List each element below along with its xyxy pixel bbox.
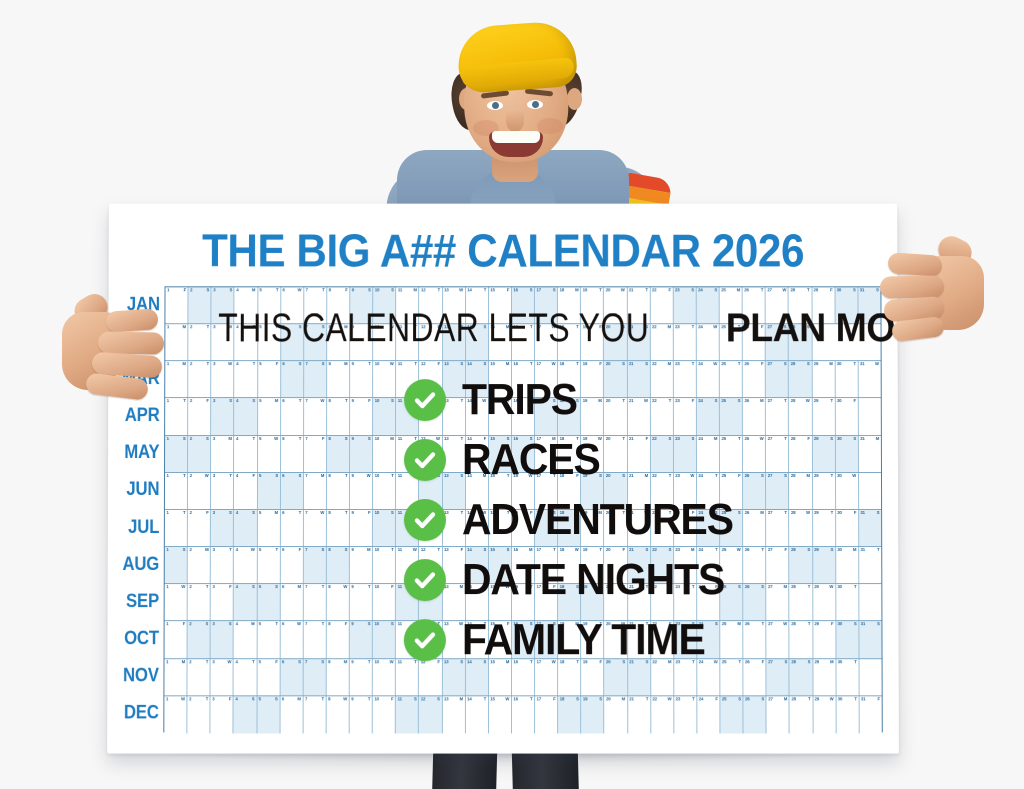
day-cell[interactable]: 17F	[535, 584, 558, 620]
day-cell[interactable]: 27W	[767, 622, 790, 658]
day-cell[interactable]: 26S	[743, 584, 766, 620]
day-cell[interactable]: 6W	[280, 622, 303, 658]
day-cell[interactable]: 12S	[419, 696, 442, 733]
day-cell[interactable]: 25T	[720, 659, 743, 695]
day-cell[interactable]: 5F	[258, 361, 281, 397]
day-cell[interactable]: 19W	[581, 436, 604, 472]
day-cell[interactable]: 21S	[628, 547, 651, 583]
day-cell[interactable]: 7M	[304, 473, 327, 509]
day-cell[interactable]: 9M	[350, 547, 373, 583]
day-cell[interactable]: 24S	[697, 399, 720, 435]
day-cell[interactable]: 19F	[581, 361, 604, 397]
day-cell[interactable]: 28S	[789, 361, 812, 397]
day-cell[interactable]: 13W	[442, 622, 465, 658]
day-cell[interactable]: 12M	[419, 399, 442, 435]
day-cell[interactable]: 31S	[859, 510, 881, 546]
day-cell[interactable]: 28W	[789, 399, 812, 435]
day-cell[interactable]: 2S	[188, 436, 211, 472]
day-cell[interactable]: 29T	[813, 510, 836, 546]
day-cell[interactable]: 19T	[581, 547, 604, 583]
day-cell[interactable]: 19S	[581, 473, 604, 509]
day-cell[interactable]: 24T	[697, 473, 720, 509]
day-cell[interactable]: 22T	[651, 399, 674, 435]
day-cell[interactable]: 29F	[813, 622, 836, 658]
day-cell[interactable]: 5M	[257, 510, 280, 546]
day-cell[interactable]: 10T	[373, 473, 396, 509]
day-cell[interactable]: 16F	[512, 399, 535, 435]
day-cell[interactable]: 28S	[789, 324, 812, 360]
day-cell[interactable]: 4T	[235, 361, 258, 397]
day-cell[interactable]: 8T	[327, 510, 350, 546]
day-cell[interactable]: 6S	[281, 473, 304, 509]
day-cell[interactable]: 22W	[651, 584, 674, 620]
day-cell[interactable]: 21M	[627, 473, 650, 509]
day-cell[interactable]: 14S	[466, 361, 489, 397]
day-cell[interactable]: 6F	[280, 547, 303, 583]
day-cell[interactable]: 27T	[766, 436, 789, 472]
day-cell[interactable]: 11S	[396, 510, 419, 546]
day-cell[interactable]: 28T	[790, 622, 813, 658]
day-cell[interactable]: 28T	[790, 584, 813, 620]
day-cell[interactable]: 1F	[165, 622, 188, 658]
day-cell[interactable]: 18M	[558, 622, 581, 658]
day-cell[interactable]: 29T	[812, 473, 835, 509]
day-cell[interactable]: 17W	[535, 361, 558, 397]
day-cell[interactable]: 8S	[327, 436, 350, 472]
day-cell[interactable]: 3M	[211, 436, 234, 472]
day-cell[interactable]: 4S	[234, 399, 257, 435]
day-cell[interactable]: 20W	[604, 622, 627, 658]
day-cell[interactable]: 2T	[188, 584, 211, 620]
day-cell[interactable]: 5F	[258, 324, 281, 360]
day-cell[interactable]: 10F	[373, 584, 396, 620]
day-cell[interactable]: 17W	[535, 324, 558, 360]
day-cell[interactable]: 9T	[350, 361, 373, 397]
day-cell[interactable]: 19M	[581, 399, 604, 435]
day-cell[interactable]: 20T	[604, 436, 627, 472]
day-cell[interactable]: 9S	[350, 436, 373, 472]
day-cell[interactable]: 3F	[211, 696, 234, 733]
day-cell[interactable]: 10S	[373, 622, 396, 658]
day-cell[interactable]: 2M	[188, 547, 211, 583]
day-cell[interactable]: 3T	[211, 473, 234, 509]
day-cell[interactable]: 3W	[211, 659, 234, 695]
day-cell[interactable]: 26W	[743, 436, 766, 472]
day-cell[interactable]: 2S	[188, 622, 211, 658]
day-cell[interactable]: 20M	[605, 696, 628, 733]
day-cell[interactable]: 11T	[396, 436, 419, 472]
day-cell[interactable]: 27M	[767, 696, 790, 733]
day-cell[interactable]: 7W	[304, 399, 327, 435]
day-cell[interactable]: 24W	[697, 324, 720, 360]
day-cell[interactable]: 15M	[489, 659, 512, 695]
day-cell[interactable]: 24F	[697, 584, 720, 620]
day-cell[interactable]: 11S	[396, 399, 419, 435]
day-cell[interactable]: 2S	[189, 287, 212, 323]
day-cell[interactable]: 8F	[327, 287, 350, 323]
day-cell[interactable]: 2T	[188, 324, 211, 360]
day-cell[interactable]: 17M	[535, 436, 558, 472]
day-cell[interactable]: 29M	[813, 659, 836, 695]
day-cell[interactable]: 21S	[627, 324, 650, 360]
day-cell[interactable]: 12T	[419, 287, 442, 323]
day-cell[interactable]: 13F	[442, 547, 465, 583]
day-cell[interactable]: 19S	[581, 696, 604, 733]
day-cell[interactable]: 17S	[535, 510, 558, 546]
day-cell[interactable]: 23T	[674, 361, 697, 397]
day-cell[interactable]: 16M	[512, 547, 535, 583]
day-cell[interactable]: 24M	[697, 436, 720, 472]
day-cell[interactable]: 15T	[489, 473, 512, 509]
day-cell[interactable]: 15T	[489, 510, 512, 546]
day-cell[interactable]: 3W	[212, 324, 235, 360]
day-cell[interactable]: 4T	[235, 324, 258, 360]
day-cell[interactable]: 9F	[350, 399, 373, 435]
day-cell[interactable]: 30T	[835, 361, 858, 397]
day-cell[interactable]: 22M	[650, 361, 673, 397]
day-cell[interactable]: 30M	[836, 547, 859, 583]
day-cell[interactable]: 8M	[327, 659, 350, 695]
day-cell[interactable]: 28S	[790, 547, 813, 583]
day-cell[interactable]: 23T	[674, 659, 697, 695]
day-cell[interactable]: 31S	[859, 622, 881, 658]
day-cell[interactable]: 5F	[257, 659, 280, 695]
day-cell[interactable]: 1W	[164, 696, 187, 733]
day-cell[interactable]: 7F	[304, 436, 327, 472]
day-cell[interactable]: 3S	[212, 287, 235, 323]
day-cell[interactable]: 23W	[674, 473, 697, 509]
day-cell[interactable]: 14W	[466, 399, 489, 435]
day-cell[interactable]: 25S	[720, 399, 743, 435]
day-cell[interactable]: 30F	[835, 399, 858, 435]
day-cell[interactable]: 2F	[188, 510, 211, 546]
day-cell[interactable]: 4S	[234, 584, 257, 620]
day-cell[interactable]: 26T	[743, 622, 766, 658]
day-cell[interactable]: 15M	[489, 324, 512, 360]
day-cell[interactable]: 2T	[188, 361, 211, 397]
day-cell[interactable]: 3T	[211, 547, 234, 583]
day-cell[interactable]: 18S	[558, 696, 581, 733]
day-cell[interactable]: 21T	[627, 287, 650, 323]
day-cell[interactable]: 9T	[350, 324, 373, 360]
day-cell[interactable]: 14S	[466, 547, 489, 583]
day-cell[interactable]: 8S	[327, 547, 350, 583]
day-cell[interactable]: 15S	[489, 436, 512, 472]
day-cell[interactable]: 6T	[281, 399, 304, 435]
day-cell[interactable]: 18S	[558, 510, 581, 546]
day-cell[interactable]: 12T	[419, 622, 442, 658]
day-cell[interactable]: 16S	[512, 287, 535, 323]
day-cell[interactable]: 12S	[419, 473, 442, 509]
day-cell[interactable]: 21W	[628, 510, 651, 546]
day-cell[interactable]: 31W	[858, 361, 880, 397]
day-cell[interactable]: 5S	[257, 584, 280, 620]
day-cell[interactable]: 9S	[350, 287, 373, 323]
day-cell[interactable]: 22S	[651, 547, 674, 583]
day-cell[interactable]: 22F	[651, 622, 674, 658]
day-cell[interactable]: 24F	[697, 696, 720, 733]
day-cell[interactable]: 5S	[257, 696, 280, 733]
day-cell[interactable]: 4S	[234, 696, 257, 733]
day-cell[interactable]: 14S	[466, 324, 489, 360]
day-cell[interactable]: 15S	[489, 547, 512, 583]
day-cell[interactable]: 27S	[767, 659, 790, 695]
day-cell[interactable]: 30T	[836, 696, 859, 733]
day-cell[interactable]: 10M	[373, 436, 396, 472]
day-cell[interactable]: 23T	[674, 696, 697, 733]
day-cell[interactable]: 11M	[396, 287, 419, 323]
day-cell[interactable]: 23M	[674, 547, 697, 583]
day-cell[interactable]: 19S	[581, 584, 604, 620]
day-cell[interactable]: 31T	[859, 547, 881, 583]
day-cell[interactable]: 15F	[489, 622, 512, 658]
day-cell[interactable]: 14T	[466, 696, 489, 733]
day-cell[interactable]: 27S	[766, 361, 789, 397]
day-cell[interactable]: 30S	[835, 287, 858, 323]
day-cell[interactable]: 24S	[697, 287, 720, 323]
day-cell[interactable]: 10W	[373, 324, 396, 360]
day-cell[interactable]: 17S	[535, 287, 558, 323]
day-cell[interactable]: 15T	[489, 399, 512, 435]
day-cell[interactable]: 29S	[813, 547, 836, 583]
day-cell[interactable]: 11S	[396, 584, 419, 620]
day-cell[interactable]: 13S	[442, 473, 465, 509]
day-cell[interactable]: 1W	[165, 584, 188, 620]
day-cell[interactable]: 30F	[836, 510, 859, 546]
day-cell[interactable]: 26M	[743, 399, 766, 435]
day-cell[interactable]: 2W	[188, 473, 211, 509]
day-cell[interactable]: 15M	[489, 361, 512, 397]
day-cell[interactable]: 19F	[581, 324, 604, 360]
day-cell[interactable]: 9T	[350, 696, 373, 733]
day-cell[interactable]: 24T	[697, 547, 720, 583]
day-cell[interactable]: 22M	[650, 324, 673, 360]
day-cell[interactable]: 21S	[628, 659, 651, 695]
day-cell[interactable]: 14S	[466, 659, 489, 695]
day-cell[interactable]: 27S	[766, 324, 789, 360]
day-cell[interactable]: 26S	[743, 473, 766, 509]
day-cell[interactable]: 15W	[489, 696, 512, 733]
day-cell[interactable]: 12F	[419, 659, 442, 695]
day-cell[interactable]: 10W	[373, 659, 396, 695]
day-cell[interactable]: 5T	[257, 622, 280, 658]
day-cell[interactable]: 12S	[419, 584, 442, 620]
day-cell[interactable]: 16T	[512, 584, 535, 620]
day-cell[interactable]: 1T	[165, 473, 188, 509]
day-cell[interactable]: 22T	[651, 510, 674, 546]
day-cell[interactable]: 23S	[674, 622, 697, 658]
day-cell[interactable]: 18S	[558, 584, 581, 620]
day-cell[interactable]: 11T	[396, 324, 419, 360]
day-cell[interactable]: 20T	[604, 510, 627, 546]
day-cell[interactable]: 12T	[419, 547, 442, 583]
day-cell[interactable]: 17F	[535, 696, 558, 733]
day-cell[interactable]: 9F	[350, 510, 373, 546]
day-cell[interactable]: 16T	[512, 659, 535, 695]
day-cell[interactable]: 14T	[466, 287, 489, 323]
day-cell[interactable]: 6S	[280, 659, 303, 695]
day-cell[interactable]: 7T	[304, 287, 327, 323]
day-cell[interactable]: 25S	[720, 510, 743, 546]
day-cell[interactable]: 6S	[281, 361, 304, 397]
day-cell[interactable]: 11F	[396, 473, 419, 509]
day-cell[interactable]: 22S	[651, 436, 674, 472]
day-cell[interactable]: 19T	[581, 287, 604, 323]
day-cell[interactable]: 10W	[373, 361, 396, 397]
day-cell[interactable]: 4M	[235, 287, 258, 323]
day-cell[interactable]: 31M	[859, 436, 881, 472]
day-cell[interactable]: 25W	[720, 547, 743, 583]
day-cell[interactable]: 8M	[327, 361, 350, 397]
day-cell[interactable]: 24W	[697, 361, 720, 397]
day-cell[interactable]: 1M	[164, 659, 187, 695]
day-cell[interactable]: 17S	[535, 399, 558, 435]
day-cell[interactable]: 7S	[304, 324, 327, 360]
day-cell[interactable]: 25M	[720, 287, 743, 323]
day-cell[interactable]: 21T	[628, 696, 651, 733]
day-cell[interactable]: 24S	[697, 622, 720, 658]
day-cell[interactable]: 5T	[258, 287, 281, 323]
day-cell[interactable]: 10S	[373, 510, 396, 546]
day-cell[interactable]: 29W	[813, 584, 836, 620]
day-cell[interactable]: 20S	[605, 659, 628, 695]
day-cell[interactable]: 25S	[720, 584, 743, 620]
day-cell[interactable]: 27T	[766, 510, 789, 546]
day-cell[interactable]: 14M	[466, 473, 489, 509]
day-cell[interactable]: 21T	[628, 622, 651, 658]
day-cell[interactable]: 11W	[396, 547, 419, 583]
day-cell[interactable]: 10F	[373, 696, 396, 733]
day-cell[interactable]: 16W	[512, 473, 535, 509]
day-cell[interactable]: 13S	[442, 659, 465, 695]
day-cell[interactable]: 20S	[604, 473, 627, 509]
day-cell[interactable]: 26T	[743, 287, 766, 323]
day-cell[interactable]: 16T	[512, 324, 535, 360]
day-cell[interactable]: 7S	[303, 659, 326, 695]
day-cell[interactable]: 6M	[280, 696, 303, 733]
day-cell[interactable]: 8M	[327, 324, 350, 360]
day-cell[interactable]: 28M	[789, 473, 812, 509]
day-cell[interactable]: 22T	[651, 473, 674, 509]
day-cell[interactable]: 11M	[396, 622, 419, 658]
day-cell[interactable]: 2T	[188, 659, 211, 695]
day-cell[interactable]: 27S	[766, 473, 789, 509]
day-cell[interactable]: 30S	[836, 622, 859, 658]
day-cell[interactable]: 10T	[373, 547, 396, 583]
day-cell[interactable]: 23F	[674, 510, 697, 546]
day-cell[interactable]: 30S	[836, 436, 859, 472]
day-cell[interactable]: 29W	[813, 696, 836, 733]
day-cell[interactable]: 26S	[744, 696, 767, 733]
day-cell[interactable]: 13T	[443, 399, 466, 435]
day-cell[interactable]: 26F	[743, 361, 766, 397]
day-cell[interactable]: 18W	[558, 547, 581, 583]
day-cell[interactable]: 23F	[674, 399, 697, 435]
day-cell[interactable]: 8W	[327, 584, 350, 620]
day-cell[interactable]: 16S	[512, 436, 535, 472]
day-cell[interactable]: 14T	[466, 584, 489, 620]
day-cell[interactable]: 25T	[720, 361, 743, 397]
day-cell[interactable]: 9T	[350, 659, 373, 695]
day-cell[interactable]: 24W	[697, 659, 720, 695]
day-cell[interactable]: 25S	[720, 696, 743, 733]
day-cell[interactable]: 19F	[581, 659, 604, 695]
day-cell[interactable]: 28W	[789, 510, 812, 546]
day-cell[interactable]: 8F	[327, 622, 350, 658]
day-cell[interactable]: 27M	[766, 584, 789, 620]
day-cell[interactable]: 13S	[443, 324, 466, 360]
day-cell[interactable]: 28T	[790, 696, 813, 733]
day-cell[interactable]: 7T	[304, 584, 327, 620]
day-cell[interactable]: 6T	[281, 436, 304, 472]
day-cell[interactable]: 10S	[373, 287, 396, 323]
day-cell[interactable]: 18T	[558, 361, 581, 397]
day-cell[interactable]: 30T	[836, 584, 859, 620]
day-cell[interactable]: 20T	[604, 399, 627, 435]
day-cell[interactable]: 24S	[697, 510, 720, 546]
day-cell[interactable]: 22F	[650, 287, 673, 323]
day-cell[interactable]: 7S	[304, 361, 327, 397]
day-cell[interactable]: 13W	[443, 287, 466, 323]
day-cell[interactable]: 17T	[535, 473, 558, 509]
day-cell[interactable]: 30T	[836, 659, 859, 695]
day-cell[interactable]: 5M	[258, 399, 281, 435]
day-cell[interactable]: 18T	[558, 436, 581, 472]
day-cell[interactable]: 18S	[558, 399, 581, 435]
day-cell[interactable]: 7T	[303, 622, 326, 658]
day-cell[interactable]: 7W	[304, 510, 327, 546]
day-cell[interactable]: 3W	[211, 361, 234, 397]
day-cell[interactable]: 16F	[512, 510, 535, 546]
day-cell[interactable]: 4M	[234, 622, 257, 658]
day-cell[interactable]: 3S	[211, 510, 234, 546]
day-cell[interactable]: 8W	[327, 696, 350, 733]
day-cell[interactable]: 26F	[743, 659, 766, 695]
day-cell[interactable]: 20S	[604, 324, 627, 360]
day-cell[interactable]: 7T	[303, 696, 326, 733]
day-cell[interactable]: 1T	[165, 510, 188, 546]
day-cell[interactable]: 14T	[466, 622, 489, 658]
day-cell[interactable]: 28F	[789, 436, 812, 472]
day-cell[interactable]: 18T	[558, 659, 581, 695]
day-cell[interactable]: 23T	[674, 584, 697, 620]
day-cell[interactable]: 9W	[350, 473, 373, 509]
day-cell[interactable]: 20F	[604, 547, 627, 583]
day-cell[interactable]: 1S	[165, 547, 188, 583]
day-cell[interactable]: 6M	[280, 584, 303, 620]
day-cell[interactable]: 18F	[558, 473, 581, 509]
day-cell[interactable]: 13M	[442, 584, 465, 620]
day-cell[interactable]: 22W	[651, 696, 674, 733]
day-cell[interactable]: 6W	[281, 287, 304, 323]
day-cell[interactable]: 16T	[512, 696, 535, 733]
day-cell[interactable]: 25T	[720, 324, 743, 360]
day-cell[interactable]: 29S	[812, 436, 835, 472]
day-cell[interactable]: 29T	[812, 399, 835, 435]
day-cell[interactable]: 16T	[512, 361, 535, 397]
day-cell[interactable]: 23T	[674, 324, 697, 360]
day-cell[interactable]: 23S	[673, 287, 696, 323]
day-cell[interactable]: 16S	[512, 622, 535, 658]
day-cell[interactable]: 1S	[165, 436, 188, 472]
day-cell[interactable]: 17S	[535, 622, 558, 658]
day-cell[interactable]: 4S	[234, 510, 257, 546]
day-cell[interactable]: 7S	[304, 547, 327, 583]
day-cell[interactable]: 3F	[211, 584, 234, 620]
day-cell[interactable]: 9S	[350, 622, 373, 658]
day-cell[interactable]: 11T	[396, 361, 419, 397]
day-cell[interactable]: 2T	[187, 696, 210, 733]
